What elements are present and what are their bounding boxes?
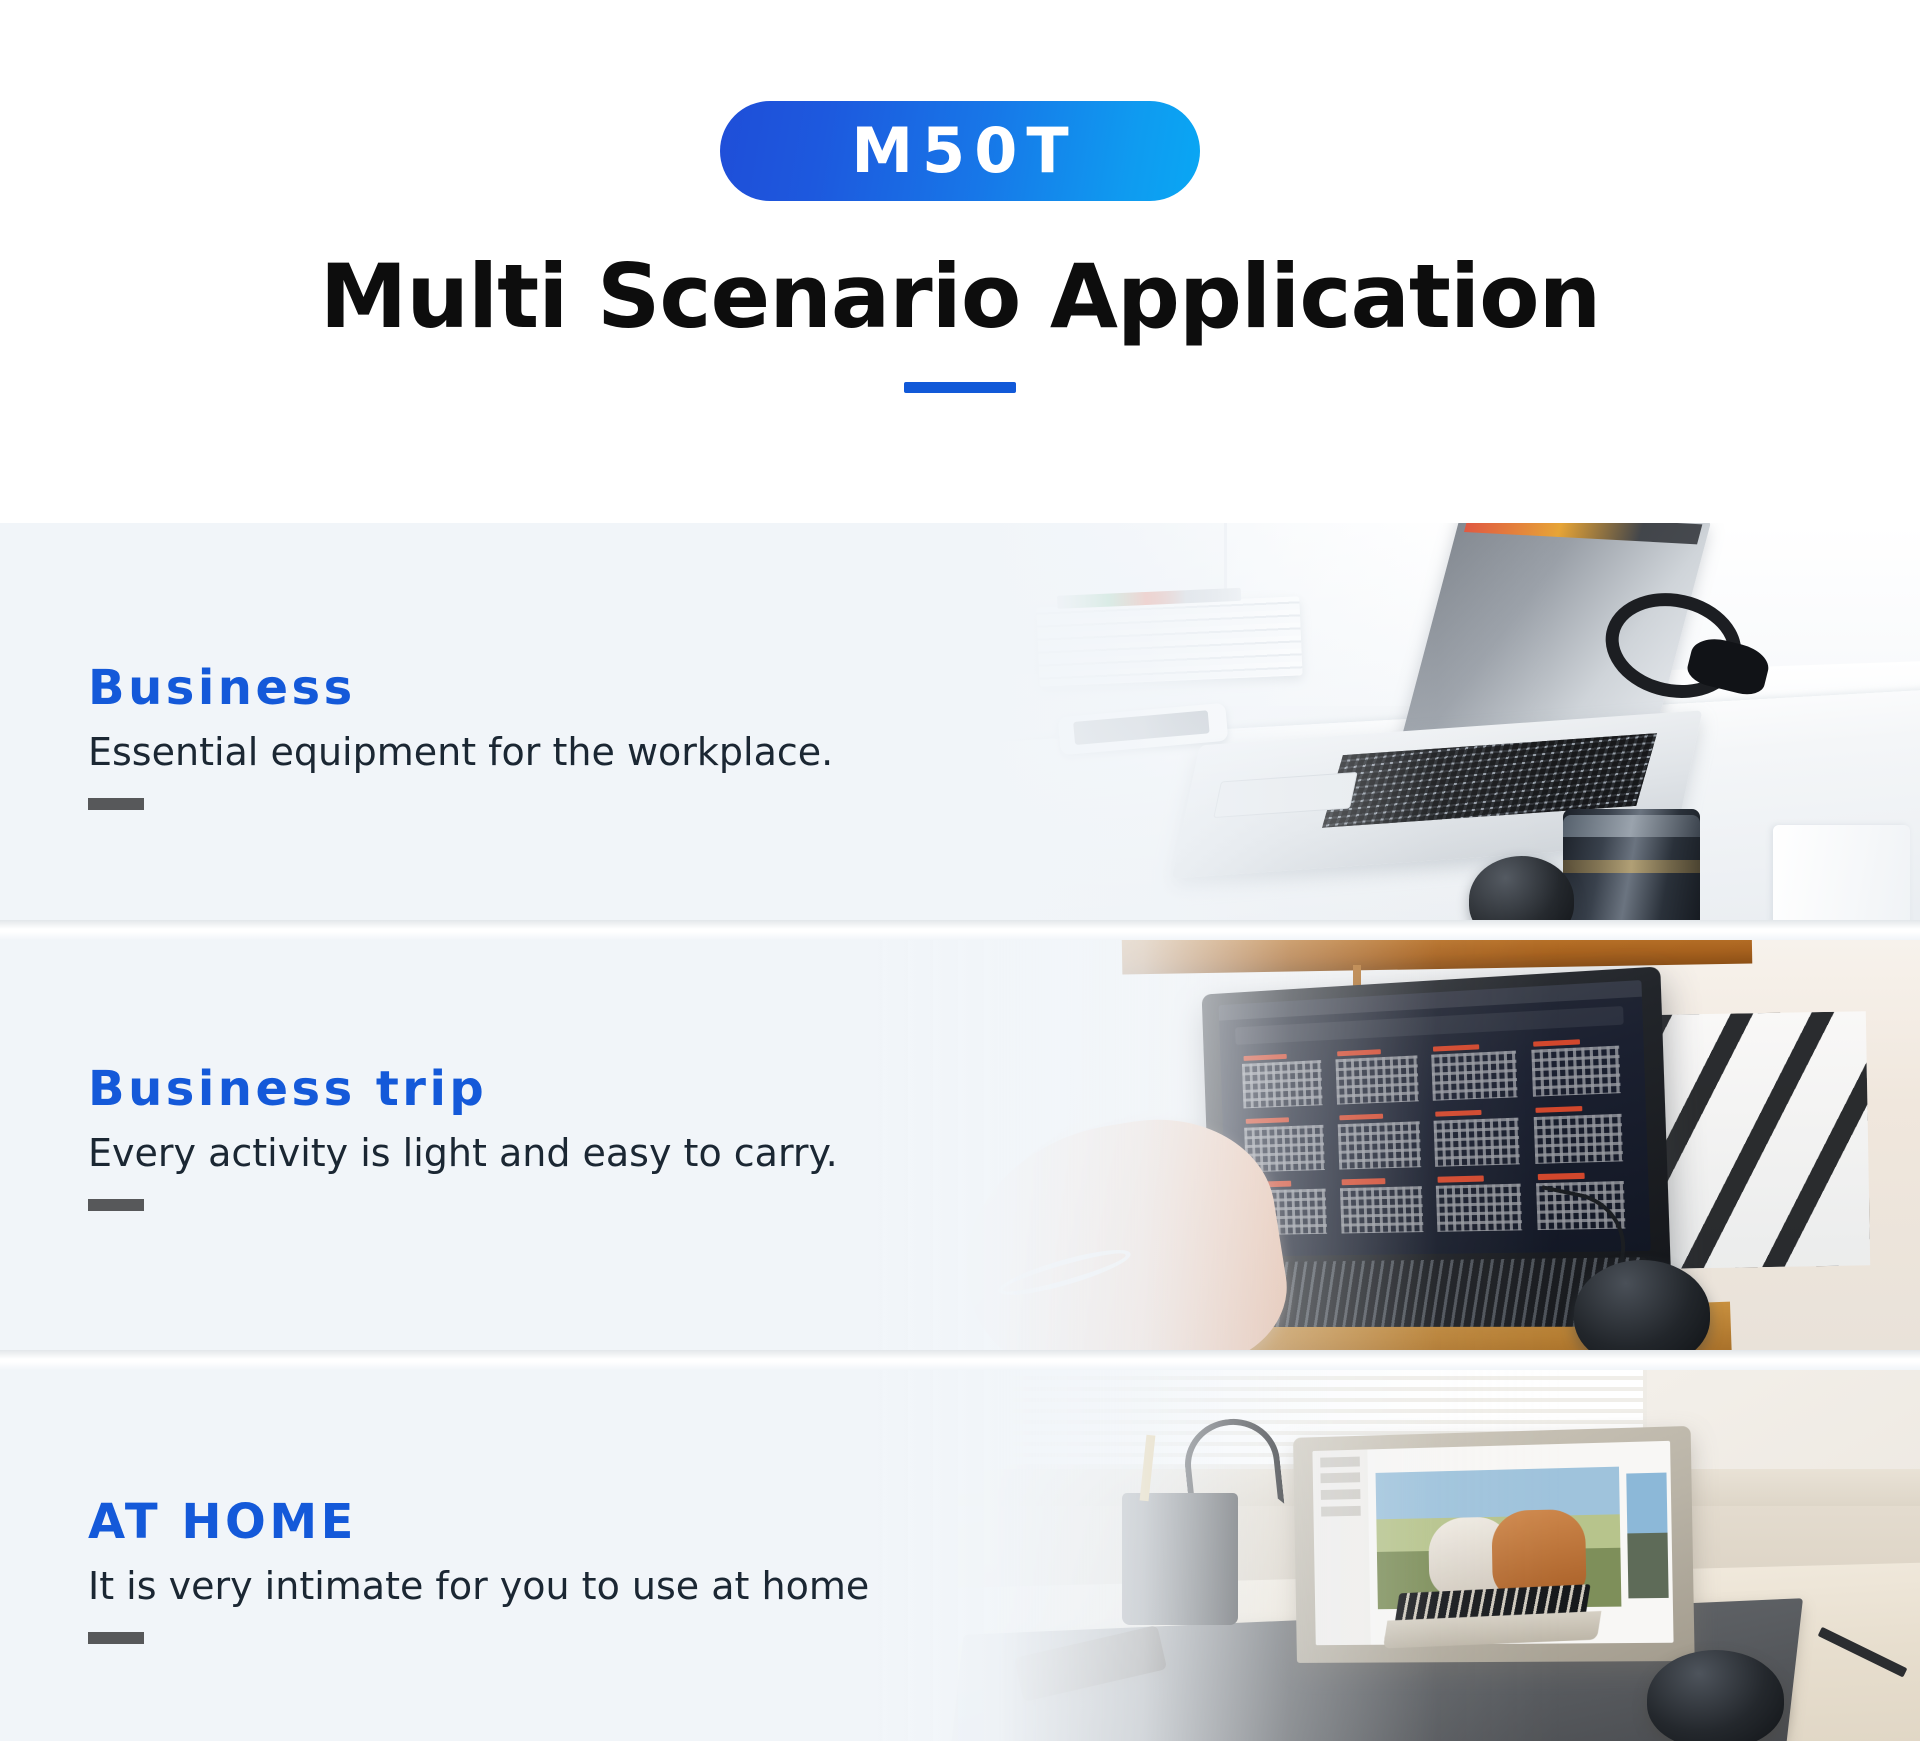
page-title: Multi Scenario Application [320, 249, 1600, 344]
scenario-list: Business Essential equipment for the wor… [0, 523, 1920, 1741]
month-title [1338, 1114, 1383, 1121]
calendar-month [1236, 1050, 1328, 1115]
month-title [1437, 1176, 1483, 1183]
book-stack [1036, 597, 1302, 688]
photo-thumbnail [1626, 1473, 1669, 1599]
scenario-section-at-home: AT HOME It is very intimate for you to u… [0, 1370, 1920, 1741]
scenario-image-at-home [870, 1370, 1920, 1741]
month-title [1433, 1044, 1479, 1052]
month-days [1531, 1046, 1620, 1097]
month-title [1243, 1053, 1286, 1061]
month-days [1533, 1113, 1622, 1163]
sidebar-line [1321, 1489, 1361, 1500]
scenario-subtitle: Essential equipment for the workplace. [88, 730, 833, 776]
month-days [1436, 1184, 1522, 1232]
month-title [1535, 1106, 1583, 1114]
month-days [1431, 1051, 1517, 1101]
wireless-mouse [1647, 1650, 1784, 1741]
calendar-month [1425, 1040, 1524, 1107]
month-title [1336, 1049, 1381, 1057]
scenario-text-business-trip: Business trip Every activity is light an… [88, 1062, 838, 1211]
scenario-accent-dash [88, 798, 144, 810]
laptop [1293, 1426, 1695, 1663]
month-title [1341, 1178, 1386, 1185]
calendar-month [1527, 1103, 1629, 1170]
product-model-label: M50T [842, 120, 1077, 182]
scenario-section-business: Business Essential equipment for the wor… [0, 523, 1920, 920]
sidebar-line [1321, 1506, 1361, 1517]
month-title [1435, 1110, 1481, 1117]
scenario-text-business: Business Essential equipment for the wor… [88, 661, 833, 810]
band-separator [0, 920, 1920, 940]
sidebar-line [1320, 1456, 1360, 1467]
scenario-section-business-trip: Business trip Every activity is light an… [0, 940, 1920, 1350]
scenario-text-at-home: AT HOME It is very intimate for you to u… [88, 1495, 881, 1644]
month-title [1245, 1117, 1288, 1124]
scenario-image-business [870, 523, 1920, 920]
calendar-month [1329, 1045, 1424, 1111]
title-underline-rule [904, 382, 1016, 393]
calendar-month [1429, 1173, 1528, 1238]
scenario-heading: AT HOME [88, 1495, 881, 1550]
calendar-month [1333, 1176, 1428, 1240]
band-separator [0, 1350, 1920, 1370]
month-days [1242, 1060, 1323, 1108]
scenario-heading: Business [88, 661, 833, 716]
scenario-image-business-trip [870, 940, 1920, 1350]
month-title [1537, 1173, 1585, 1180]
scenario-heading: Business trip [88, 1062, 838, 1117]
calendar-month [1524, 1035, 1626, 1103]
page-header: M50T Multi Scenario Application [0, 0, 1920, 523]
travel-tumbler [1563, 809, 1700, 920]
scenario-accent-dash [88, 1632, 144, 1644]
calendar-month [1331, 1111, 1426, 1176]
month-days [1337, 1121, 1421, 1169]
paper-cup [1773, 825, 1910, 920]
scenario-subtitle: Every activity is light and easy to carr… [88, 1131, 838, 1177]
scenario-accent-dash [88, 1199, 144, 1211]
screen-sidebar [1312, 1449, 1371, 1645]
sidebar-line [1320, 1472, 1360, 1483]
calendar-month [1427, 1107, 1526, 1173]
month-title [1532, 1039, 1580, 1047]
month-days [1433, 1117, 1519, 1166]
product-model-badge: M50T [720, 101, 1200, 201]
pen-cup [1122, 1493, 1238, 1625]
month-days [1335, 1056, 1419, 1105]
scenario-subtitle: It is very intimate for you to use at ho… [88, 1564, 881, 1610]
month-days [1339, 1186, 1423, 1233]
